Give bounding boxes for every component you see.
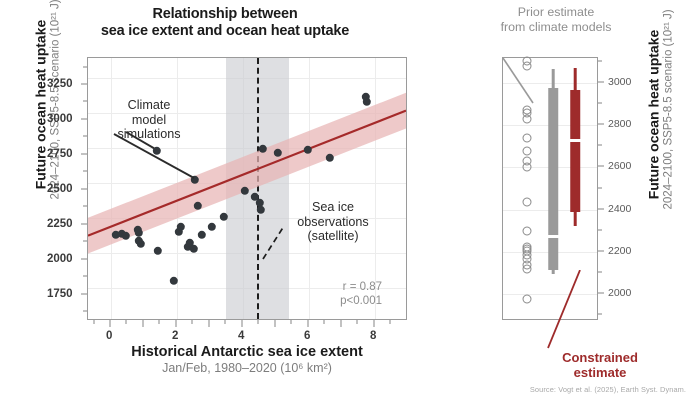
x-tick-4: 4 xyxy=(238,330,244,342)
right-y-tick-2000: 2000 xyxy=(608,287,631,299)
chart-title-line1: Relationship between xyxy=(60,6,390,23)
x-axis-ticks xyxy=(87,320,408,330)
annotation-sea-ice-observations: Sea ice observations (satellite) xyxy=(280,200,386,244)
x-axis-label-sub: Jan/Feb, 1980–2020 (10⁶ km²) xyxy=(57,361,437,376)
source-note: Source: Vogt et al. (2025), Earth Syst. … xyxy=(518,385,698,394)
constrained-label-line1: Constrained xyxy=(535,350,665,365)
chart-title-line2: sea ice extent and ocean heat uptake xyxy=(60,23,390,40)
right-y-tick-2200: 2200 xyxy=(608,245,631,257)
annotation-observations-line1: Sea ice xyxy=(280,200,386,215)
right-y-tick-2600: 2600 xyxy=(608,160,631,172)
right-y-axis-ticks xyxy=(598,57,608,321)
chart-title: Relationship between sea ice extent and … xyxy=(60,6,390,40)
right-y-tick-3000: 3000 xyxy=(608,76,631,88)
y-tick-2750: 2750 xyxy=(47,148,73,160)
y-tick-2000: 2000 xyxy=(47,253,73,265)
boxplot-panel: Prior estimate from climate models xyxy=(440,0,700,404)
y-tick-2500: 2500 xyxy=(47,183,73,195)
annotation-observations-line2: observations xyxy=(280,215,386,230)
statistics-annotation: r = 0.87 p<0.001 xyxy=(286,281,382,308)
annotation-observations-line3: (satellite) xyxy=(280,229,386,244)
annotation-constrained-estimate: Constrained estimate xyxy=(535,350,665,380)
annotation-climate-models: Climate model simulations xyxy=(100,98,198,142)
right-y-axis-label: Future ocean heat uptake 2024–2100, SSP5… xyxy=(646,20,675,210)
right-y-axis-label-main: Future ocean heat uptake xyxy=(646,20,662,210)
constrained-label-line2: estimate xyxy=(535,365,665,380)
y-axis-label: Future ocean heat uptake 2024–2100, SSP5… xyxy=(33,10,62,200)
annotation-prior-estimate: Prior estimate from climate models xyxy=(458,5,654,35)
x-axis-label: Historical Antarctic sea ice extent Jan/… xyxy=(57,344,437,376)
constrained-leader-line xyxy=(540,270,620,352)
scatter-panel: Relationship between sea ice extent and … xyxy=(0,0,440,404)
y-tick-2250: 2250 xyxy=(47,218,73,230)
annotation-climate-models-line1: Climate xyxy=(100,98,198,113)
stat-correlation: r = 0.87 xyxy=(286,281,382,295)
stat-pvalue: p<0.001 xyxy=(286,295,382,309)
x-tick-6: 6 xyxy=(304,330,310,342)
prior-note-line1: Prior estimate xyxy=(458,5,654,20)
right-y-axis-label-sub: 2024–2100, SSP5-8.5 scenario (10²¹ J) xyxy=(663,20,675,210)
y-tick-3250: 3250 xyxy=(47,78,73,90)
y-tick-3000: 3000 xyxy=(47,113,73,125)
annotation-climate-models-line3: simulations xyxy=(100,127,198,142)
x-tick-0: 0 xyxy=(106,330,112,342)
figure-root: Relationship between sea ice extent and … xyxy=(0,0,700,404)
prior-note-line2: from climate models xyxy=(458,20,654,35)
right-y-tick-2800: 2800 xyxy=(608,118,631,130)
x-axis-label-main: Historical Antarctic sea ice extent xyxy=(57,344,437,361)
x-tick-8: 8 xyxy=(370,330,376,342)
right-y-tick-2400: 2400 xyxy=(608,203,631,215)
x-tick-2: 2 xyxy=(172,330,178,342)
annotation-climate-models-line2: model xyxy=(100,113,198,128)
y-axis-label-sub: 2024–2100, SSP5-8.5 scenario (10²¹ J) xyxy=(50,10,62,200)
y-tick-1750: 1750 xyxy=(47,288,73,300)
y-axis-label-main: Future ocean heat uptake xyxy=(33,10,49,200)
